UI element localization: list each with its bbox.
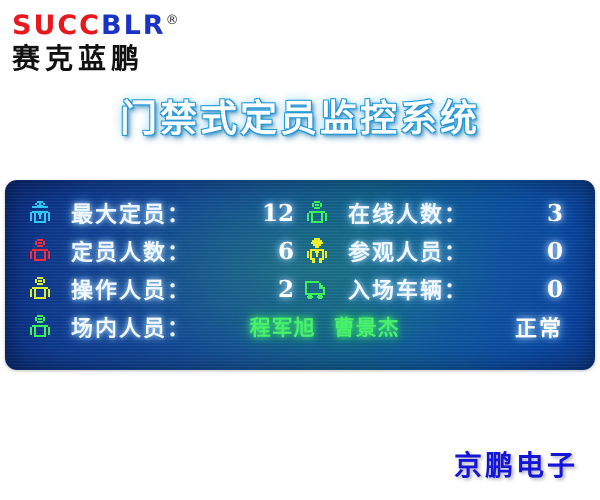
brand-latin-part1: SUCC [12,10,101,41]
onsite-personnel-label: 场内人员： [57,311,240,343]
stat-label: 参观人员： [334,235,503,267]
person-icon-yellow [23,274,57,304]
page-title: 门禁式定员监控系统 [0,88,600,142]
stat-value: 0 [503,276,577,303]
registered-trademark-icon: ® [166,13,179,28]
stat-label: 最大定员： [57,197,236,229]
truck-icon-green [300,274,334,304]
stat-value: 0 [503,238,577,265]
onsite-personnel-names: 程军旭曹景杰 [240,312,467,342]
stat-label: 入场车辆： [334,273,503,305]
stat-vehicle-count: 入场车辆： 0 [300,273,577,305]
status-badge: 正常 [515,311,577,343]
led-row: 定员人数： 6 [23,232,577,270]
person-icon-green [23,312,57,342]
person-icon-red [23,236,57,266]
stat-operator-count: 操作人员： 2 [23,273,300,305]
stat-quota-count: 定员人数： 6 [23,235,300,267]
led-row: 操作人员： 2 [23,270,577,308]
brand-latin-wordmark: SUCCBLR® [12,6,242,41]
person-icon-green [300,198,334,228]
stat-value: 12 [236,200,300,227]
stat-value: 6 [236,238,300,265]
stat-visitor-count: 参观人员： 0 [300,235,577,267]
brand-chinese-name: 赛克蓝鹏 [12,42,242,76]
led-row-onsite-personnel: 场内人员： 程军旭曹景杰 正常 [23,308,577,346]
led-row: 最大定员： 12 在线人数： [23,194,577,232]
stat-label: 定员人数： [57,235,236,267]
footer-company-name: 京鹏电子 [454,444,578,484]
stat-label: 操作人员： [57,273,236,305]
list-item: 曹景杰 [334,316,400,340]
brand-latin-part2: BLR [101,10,166,41]
list-item: 程军旭 [250,316,316,340]
led-display-panel: 最大定员： 12 在线人数： [5,180,595,370]
stat-label: 在线人数： [334,197,503,229]
stat-value: 2 [236,276,300,303]
stat-value: 3 [503,200,577,227]
stat-online-count: 在线人数： 3 [300,197,577,229]
stat-max-capacity: 最大定员： 12 [23,197,300,229]
led-content-grid: 最大定员： 12 在线人数： [5,180,595,370]
worker-icon-yellow [300,236,334,266]
person-icon-cyan [23,198,57,228]
brand-logo: SUCCBLR® 赛克蓝鹏 [12,6,242,76]
